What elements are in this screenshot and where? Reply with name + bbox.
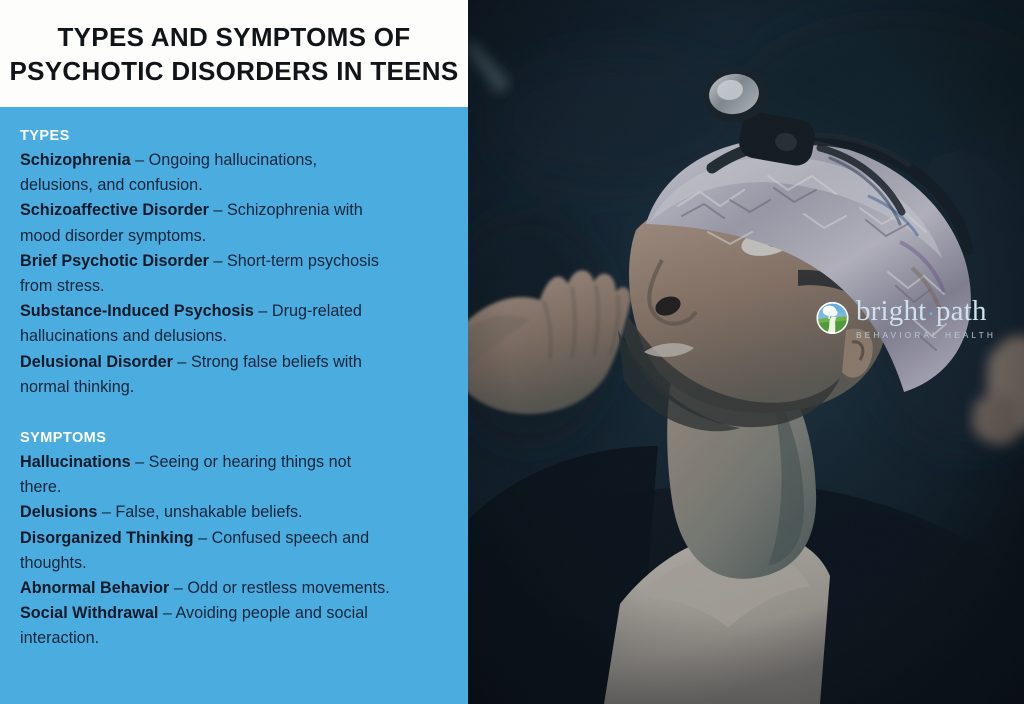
entry-term: Schizoaffective Disorder	[20, 201, 209, 219]
entry-term: Delusions	[20, 503, 97, 521]
list-item: Hallucinations – Seeing or hearing thing…	[20, 450, 392, 500]
list-item: Brief Psychotic Disorder – Short-term ps…	[20, 249, 392, 299]
entry-dash: –	[213, 201, 222, 219]
list-item: Schizoaffective Disorder – Schizophrenia…	[20, 198, 392, 248]
logo-wordmark: bright·path	[856, 297, 996, 328]
infographic-root: TYPES AND SYMPTOMS OF PSYCHOTIC DISORDER…	[0, 0, 1024, 704]
entry-term: Brief Psychotic Disorder	[20, 252, 209, 270]
list-item: Delusional Disorder – Strong false belie…	[20, 350, 392, 400]
list-item: Social Withdrawal – Avoiding people and …	[20, 601, 392, 651]
logo-tagline: BEHAVIORAL HEALTH	[856, 331, 996, 339]
brightpath-logo[interactable]: bright·path BEHAVIORAL HEALTH	[816, 0, 996, 670]
section-heading-types: TYPES	[20, 126, 450, 146]
page-title-line-2: PSYCHOTIC DISORDERS IN TEENS	[9, 54, 458, 88]
entry-dash: –	[135, 453, 144, 471]
entry-term: Hallucinations	[20, 453, 131, 471]
tree-and-path-circle-icon	[816, 0, 849, 670]
entry-term: Substance-Induced Psychosis	[20, 302, 254, 320]
entry-term: Disorganized Thinking	[20, 529, 194, 547]
logo-separator-dot: ·	[926, 301, 936, 326]
entry-dash: –	[163, 604, 172, 622]
logo-word-bright: bright	[856, 295, 926, 327]
logo-text-group: bright·path BEHAVIORAL HEALTH	[856, 297, 996, 339]
entry-description: False, unshakable beliefs.	[115, 503, 302, 521]
list-item: Delusions – False, unshakable beliefs.	[20, 500, 392, 525]
list-item: Disorganized Thinking – Confused speech …	[20, 526, 392, 576]
section-symptoms: SYMPTOMS Hallucinations – Seeing or hear…	[20, 428, 450, 652]
blue-content-panel: TYPES Schizophrenia – Ongoing hallucinat…	[0, 107, 468, 704]
left-content-column: TYPES AND SYMPTOMS OF PSYCHOTIC DISORDER…	[0, 0, 468, 704]
section-heading-symptoms: SYMPTOMS	[20, 428, 450, 448]
logo-word-path: path	[936, 295, 987, 327]
title-band: TYPES AND SYMPTOMS OF PSYCHOTIC DISORDER…	[0, 0, 468, 107]
entry-term: Social Withdrawal	[20, 604, 158, 622]
entry-dash: –	[198, 529, 207, 547]
entry-dash: –	[102, 503, 111, 521]
list-item: Abnormal Behavior – Odd or restless move…	[20, 576, 392, 601]
entry-dash: –	[258, 302, 267, 320]
entry-term: Schizophrenia	[20, 151, 131, 169]
entry-dash: –	[213, 252, 222, 270]
list-item: Substance-Induced Psychosis – Drug-relat…	[20, 299, 392, 349]
entry-dash: –	[135, 151, 144, 169]
list-item: Schizophrenia – Ongoing hallucinations, …	[20, 148, 392, 198]
page-title-line-1: TYPES AND SYMPTOMS OF	[57, 20, 410, 54]
entry-dash: –	[174, 579, 183, 597]
entry-term: Delusional Disorder	[20, 353, 173, 371]
hero-photo: bright·path BEHAVIORAL HEALTH	[468, 0, 1024, 704]
entry-description: Odd or restless movements.	[187, 579, 389, 597]
entry-term: Abnormal Behavior	[20, 579, 169, 597]
entry-dash: –	[177, 353, 186, 371]
section-types: TYPES Schizophrenia – Ongoing hallucinat…	[20, 126, 450, 400]
